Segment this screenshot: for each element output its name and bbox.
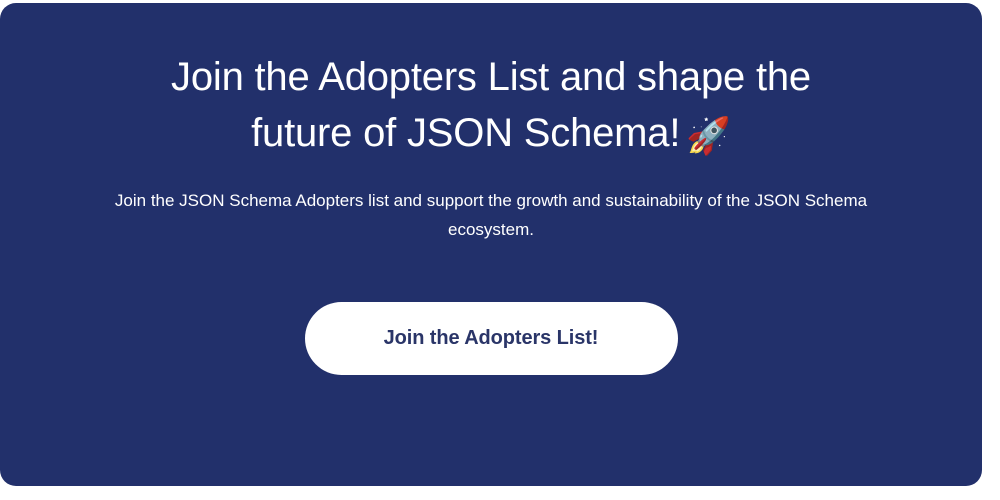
page-title: Join the Adopters List and shape the fut… [121,49,861,161]
promo-page: Join the Adopters List and shape the fut… [0,0,1000,500]
rocket-icon: 🚀 [686,118,731,154]
cta-subtitle: Join the JSON Schema Adopters list and s… [96,186,886,244]
page-title-line-2: future of JSON Schema! [251,111,680,155]
page-title-line-1: Join the Adopters List and shape the [171,55,811,99]
cta-button-container: Join the Adopters List! [60,302,922,375]
adopters-cta-card: Join the Adopters List and shape the fut… [0,3,982,486]
join-adopters-list-button[interactable]: Join the Adopters List! [305,302,678,375]
